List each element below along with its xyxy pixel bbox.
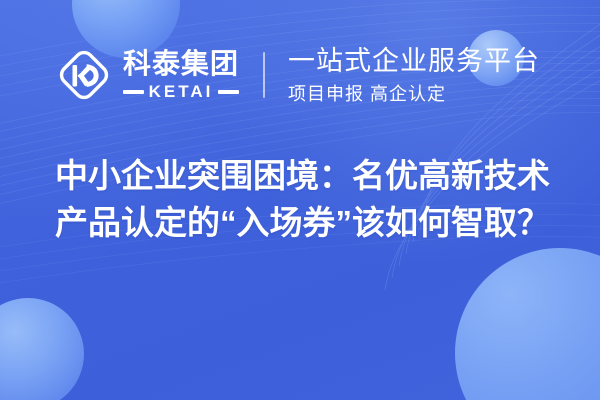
tagline-primary: 一站式企业服务平台 bbox=[288, 46, 540, 77]
header-divider bbox=[263, 52, 265, 98]
brand-header: 科泰集团 KETAI 一站式企业服务平台 项目申报 高企认定 bbox=[0, 36, 600, 114]
promo-banner: 科泰集团 KETAI 一站式企业服务平台 项目申报 高企认定 中小企业突围困境：… bbox=[0, 0, 600, 400]
wordmark-rule-left bbox=[123, 90, 144, 94]
header-tagline: 一站式企业服务平台 项目申报 高企认定 bbox=[288, 46, 540, 105]
wordmark-rule-right bbox=[218, 90, 239, 94]
brand-logo[interactable]: 科泰集团 KETAI bbox=[55, 46, 239, 104]
tagline-secondary: 项目申报 高企认定 bbox=[288, 84, 540, 105]
brand-name-cn: 科泰集团 bbox=[123, 50, 239, 78]
brand-name-en-row: KETAI bbox=[123, 83, 239, 100]
page-title: 中小企业突围困境：名优高新技术产品认定的“入场券”该如何智取？ bbox=[55, 152, 567, 246]
ketai-diamond-kd-logo-icon bbox=[55, 46, 113, 104]
brand-wordmark: 科泰集团 KETAI bbox=[123, 50, 239, 100]
brand-name-en: KETAI bbox=[149, 83, 214, 100]
